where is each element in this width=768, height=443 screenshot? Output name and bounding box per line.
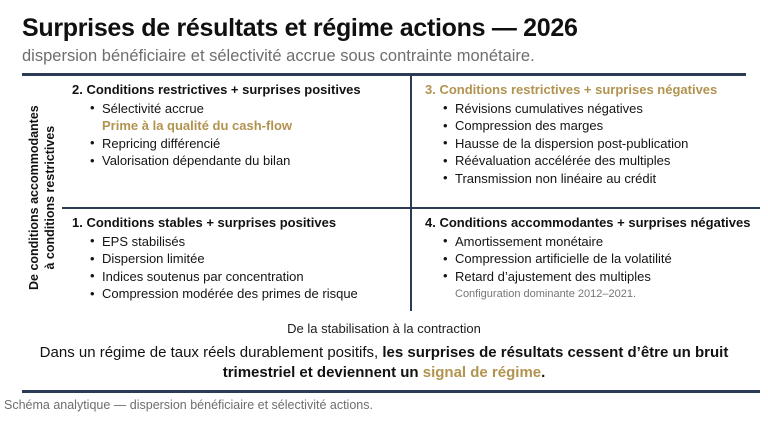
quadrant-2-list-cont: Repricing différencié Valorisation dépen… <box>72 135 401 170</box>
quadrant-1-list: EPS stabilisés Dispersion limitée Indice… <box>72 233 401 303</box>
list-item: Compression artificielle de la volatilit… <box>443 250 750 268</box>
conclusion-statement: Dans un régime de taux réels durablement… <box>34 343 734 383</box>
y-axis-label-line2: à conditions restrictives <box>42 105 58 290</box>
quadrant-4-heading: 4. Conditions accommodantes + surprises … <box>425 215 750 231</box>
quadrant-1-heading: 1. Conditions stables + surprises positi… <box>72 215 401 231</box>
conclusion-accent: signal de régime <box>423 364 541 381</box>
matrix-grid: 2. Conditions restrictives + surprises p… <box>62 76 760 319</box>
list-item: Compression des marges <box>443 117 750 135</box>
quadrant-2-heading: 2. Conditions restrictives + surprises p… <box>72 82 401 98</box>
quadrant-matrix: De conditions accommodantes à conditions… <box>22 76 760 319</box>
conclusion-tail: . <box>541 364 545 381</box>
list-item: Indices soutenus par concentration <box>90 268 401 286</box>
list-item: Valorisation dépendante du bilan <box>90 152 401 170</box>
quadrant-3-heading: 3. Conditions restrictives + surprises n… <box>425 82 750 98</box>
x-axis-label: De la stabilisation à la contraction <box>0 321 768 336</box>
footer-caption: Schéma analytique — dispersion bénéficia… <box>0 393 768 412</box>
list-item: Repricing différencié <box>90 135 401 153</box>
header: Surprises de résultats et régime actions… <box>0 0 768 66</box>
quadrant-3: 3. Conditions restrictives + surprises n… <box>411 76 760 207</box>
page-subtitle: dispersion bénéficiaire et sélectivité a… <box>22 46 746 67</box>
quadrant-3-list: Révisions cumulatives négatives Compress… <box>425 100 750 188</box>
conclusion-lead: Dans un régime de taux réels durablement… <box>40 344 383 361</box>
y-axis-label: De conditions accommodantes à conditions… <box>22 76 62 319</box>
list-item: Dispersion limitée <box>90 250 401 268</box>
list-item: Révisions cumulatives négatives <box>443 100 750 118</box>
list-item: Amortissement monétaire <box>443 233 750 251</box>
list-item: Hausse de la dispersion post-publication <box>443 135 750 153</box>
list-item: Transmission non linéaire au crédit <box>443 170 750 188</box>
quadrant-2-list: Sélectivité accrue <box>72 100 401 118</box>
list-item: Réévaluation accélérée des multiples <box>443 152 750 170</box>
quadrant-4-note: Configuration dominante 2012–2021. <box>425 286 750 302</box>
quadrant-4: 4. Conditions accommodantes + surprises … <box>411 209 760 319</box>
quadrant-2-highlight: Prime à la qualité du cash-flow <box>72 117 401 135</box>
quadrant-1: 1. Conditions stables + surprises positi… <box>62 209 411 319</box>
list-item: Retard d’ajustement des multiples <box>443 268 750 286</box>
list-item: Sélectivité accrue <box>90 100 401 118</box>
page-title: Surprises de résultats et régime actions… <box>22 14 746 43</box>
list-item: EPS stabilisés <box>90 233 401 251</box>
quadrant-4-list: Amortissement monétaire Compression arti… <box>425 233 750 286</box>
quadrant-2: 2. Conditions restrictives + surprises p… <box>62 76 411 207</box>
y-axis-label-line1: De conditions accommodantes <box>26 105 42 290</box>
list-item: Compression modérée des primes de risque <box>90 285 401 303</box>
